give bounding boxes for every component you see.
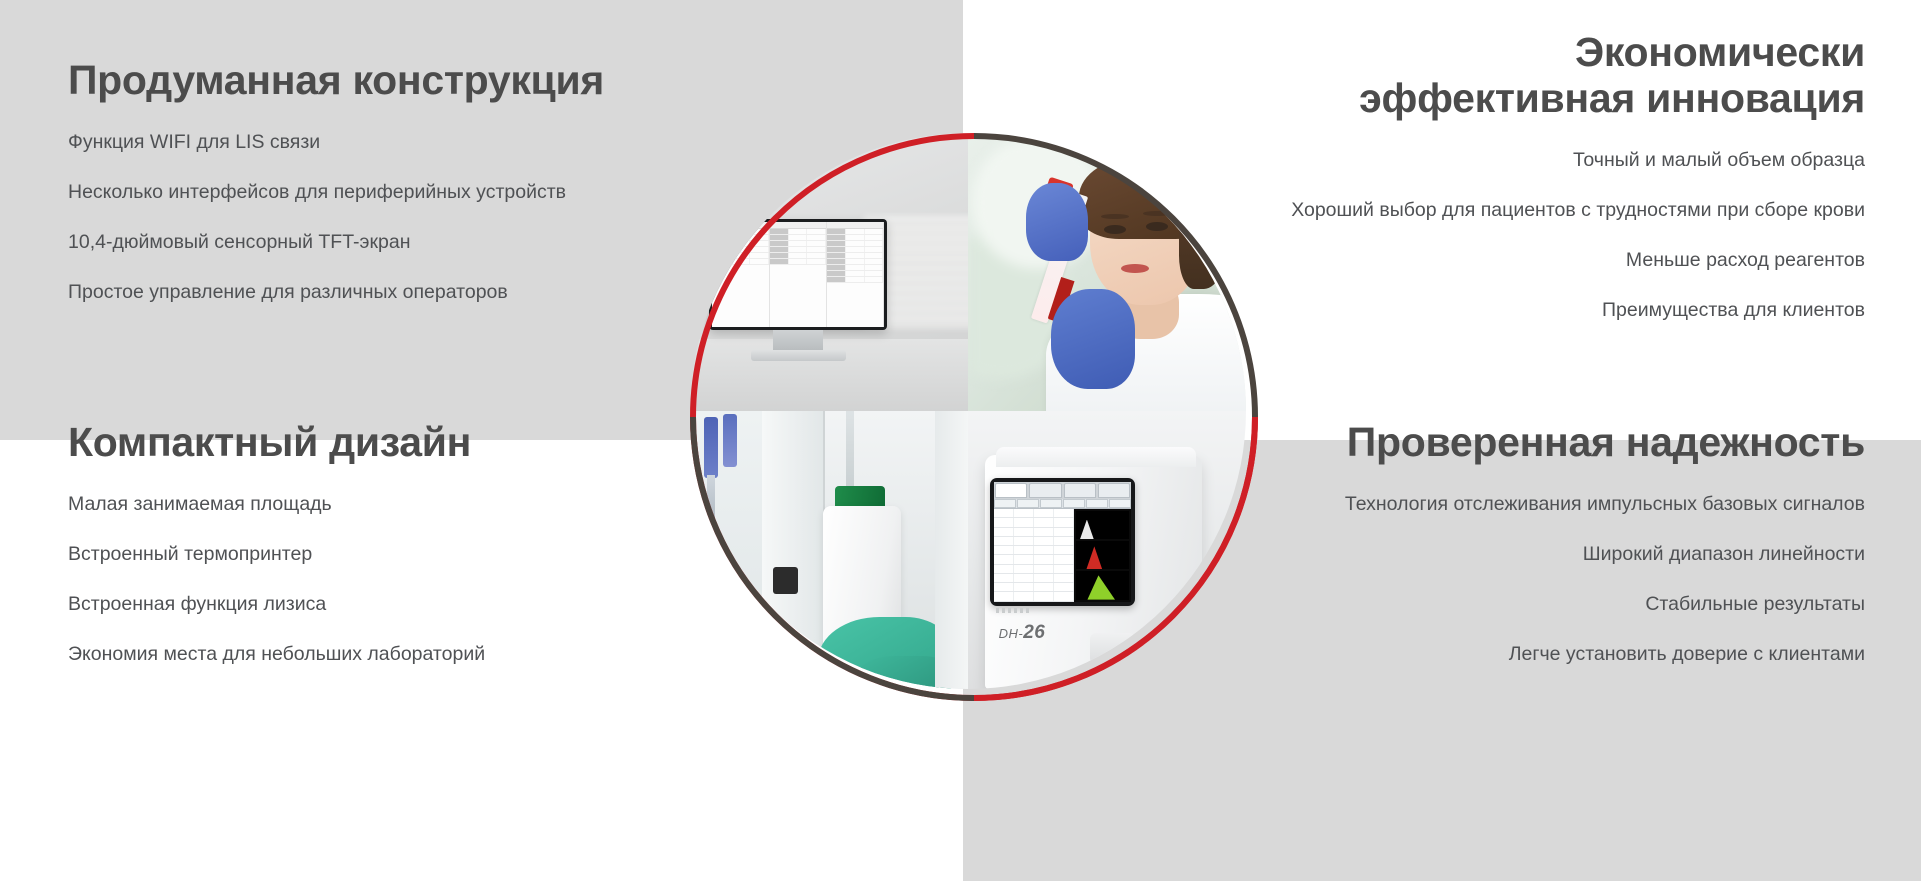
- list-item: Функция WIFI для LIS связи: [68, 130, 688, 155]
- list-item: Экономия места для небольших лабораторий: [68, 642, 688, 667]
- page-title-bottom-left: Компактный дизайн: [68, 420, 688, 466]
- list-item: Стабильные результаты: [1105, 592, 1865, 617]
- analyzer-vent: [996, 608, 1032, 612]
- pipette-tip: [707, 475, 715, 531]
- page-title-bottom-right: Проверенная надежность: [1105, 420, 1865, 466]
- analyzer-model-logo: DH-26: [999, 622, 1046, 644]
- list-item: Легче установить доверие с клиентами: [1105, 642, 1865, 667]
- list-item: Технология отслеживания импульсных базов…: [1105, 492, 1865, 517]
- blue-glove-upper-hand: [1026, 183, 1087, 261]
- list-item: Встроенный термопринтер: [68, 542, 688, 567]
- analyzer-model-prefix: DH-: [999, 626, 1024, 641]
- panel-top-right: Экономически эффективная инновация Точны…: [1165, 30, 1865, 348]
- list-item: Несколько интерфейсов для периферийных у…: [68, 180, 688, 205]
- lcd-results-table: [994, 509, 1074, 602]
- list-item: Точный и малый объем образца: [1165, 148, 1865, 173]
- analyzer-model-number: 26: [1023, 622, 1045, 643]
- panel-bottom-right: Проверенная надежность Технология отслеж…: [1105, 420, 1865, 692]
- page-title-top-right: Экономически эффективная инновация: [1165, 30, 1865, 122]
- page-title-top-left: Продуманная конструкция: [68, 58, 688, 104]
- list-item: Простое управление для различных операто…: [68, 280, 688, 305]
- monitor-frame: [709, 219, 887, 330]
- cabinet-door: [762, 411, 825, 689]
- blue-glove-lower-hand: [1051, 289, 1134, 389]
- cabinet-right-wall: [935, 411, 968, 689]
- panel-top-left: Продуманная конструкция Функция WIFI для…: [68, 58, 688, 330]
- technician-eyebrow-left: [1101, 214, 1129, 220]
- feature-list-top-left: Функция WIFI для LIS связи Несколько инт…: [68, 130, 688, 305]
- feature-list-top-right: Точный и малый объем образца Хороший выб…: [1165, 148, 1865, 323]
- monitor-screen: [712, 222, 884, 327]
- technician-lips: [1121, 264, 1149, 273]
- feature-list-bottom-right: Технология отслеживания импульсных базов…: [1105, 492, 1865, 667]
- monitor-results-photo: [690, 133, 968, 411]
- list-item: Хороший выбор для пациентов с трудностям…: [1165, 198, 1865, 223]
- fluid-tube-line: [846, 411, 854, 489]
- list-item: Меньше расход реагентов: [1165, 248, 1865, 273]
- list-item: Встроенная функция лизиса: [68, 592, 688, 617]
- panel-bottom-left: Компактный дизайн Малая занимаемая площа…: [68, 420, 688, 692]
- list-item: Широкий диапазон линейности: [1105, 542, 1865, 567]
- pipette-one: [704, 417, 718, 478]
- feature-slide: DH-26 Продуманная конструкция Функция WI…: [0, 0, 1921, 881]
- reagent-bottle-photo: [690, 411, 968, 689]
- cabinet-latch: [773, 567, 798, 595]
- list-item: 10,4-дюймовый сенсорный TFT-экран: [68, 230, 688, 255]
- title-line-2: эффективная инновация: [1359, 75, 1865, 121]
- feature-list-bottom-left: Малая занимаемая площадь Встроенный терм…: [68, 492, 688, 667]
- monitor-stand-neck: [773, 330, 823, 349]
- pipette-two: [723, 414, 737, 467]
- title-line-1: Экономически: [1575, 29, 1865, 75]
- monitor-stand-base: [751, 350, 846, 361]
- list-item: Малая занимаемая площадь: [68, 492, 688, 517]
- list-item: Преимущества для клиентов: [1165, 298, 1865, 323]
